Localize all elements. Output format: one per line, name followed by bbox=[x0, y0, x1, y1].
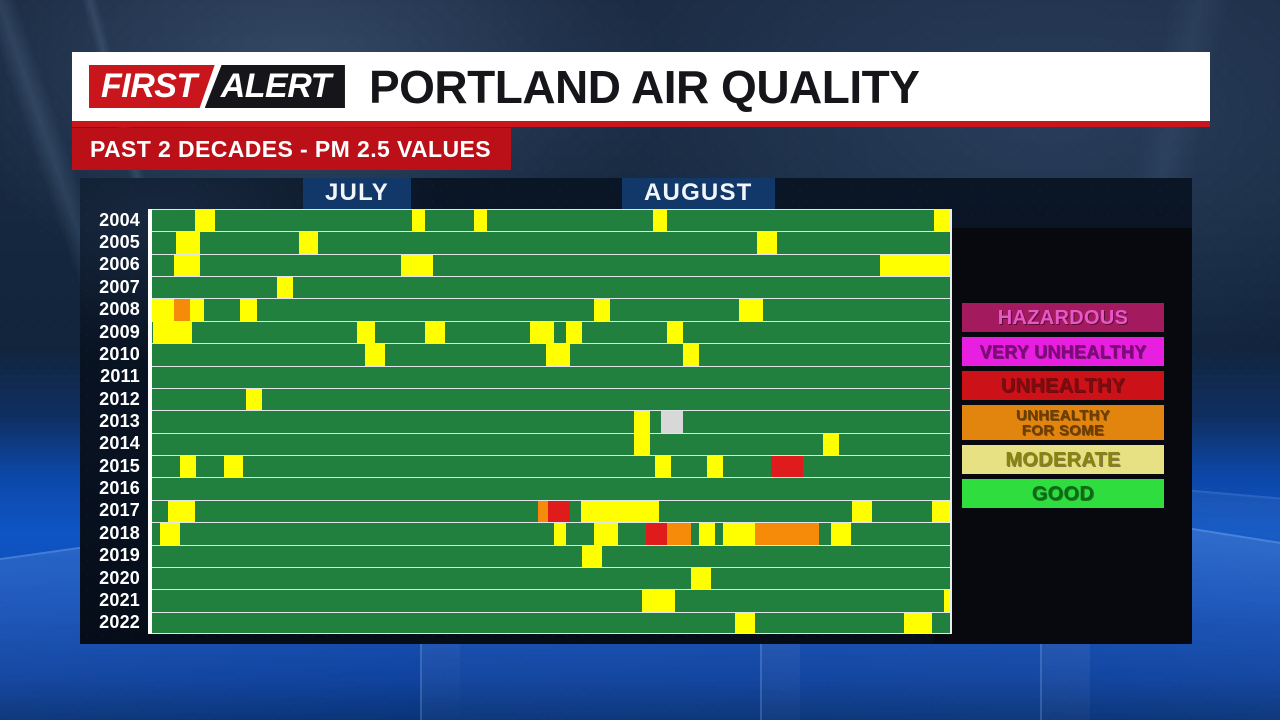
heatmap-cell bbox=[880, 255, 952, 276]
year-axis-label: 2021 bbox=[80, 589, 148, 611]
legend-item-hazardous: HAZARDOUS bbox=[962, 303, 1164, 332]
heatmap-row-cells bbox=[148, 366, 952, 388]
year-axis-label: 2005 bbox=[80, 231, 148, 253]
heatmap-cell bbox=[425, 322, 445, 343]
heatmap-cell bbox=[240, 299, 256, 320]
month-label-august: AUGUST bbox=[622, 178, 775, 209]
month-header-july: JULY bbox=[148, 178, 550, 209]
heatmap-cell bbox=[634, 434, 650, 455]
heatmap-row: 2022 bbox=[80, 612, 952, 634]
month-divider bbox=[148, 209, 152, 634]
heatmap-cell bbox=[582, 546, 602, 567]
heatmap-cell bbox=[757, 232, 776, 253]
year-axis-label: 2008 bbox=[80, 298, 148, 320]
legend-item-unhealthy-for-some: UNHEALTHYFOR SOME bbox=[962, 405, 1164, 440]
heatmap-row: 2017 bbox=[80, 500, 952, 522]
year-axis-label: 2014 bbox=[80, 433, 148, 455]
heatmap-row-cells bbox=[148, 612, 952, 634]
heatmap-cell bbox=[153, 322, 192, 343]
heatmap-row: 2015 bbox=[80, 455, 952, 477]
heatmap-cell bbox=[581, 501, 659, 522]
heatmap-cell bbox=[530, 322, 554, 343]
heatmap-row-cells bbox=[148, 388, 952, 410]
heatmap-cell bbox=[554, 523, 566, 544]
year-axis-label: 2007 bbox=[80, 276, 148, 298]
heatmap-row-cells bbox=[148, 567, 952, 589]
heatmap-row-cells bbox=[148, 254, 952, 276]
heatmap-cell bbox=[195, 210, 215, 231]
heatmap-row: 2006 bbox=[80, 254, 952, 276]
month-header-bar: JULY AUGUST bbox=[148, 178, 952, 209]
heatmap-row-cells bbox=[148, 500, 952, 522]
heatmap-cell bbox=[739, 299, 763, 320]
title-bar: FIRST ALERT PORTLAND AIR QUALITY bbox=[72, 52, 1210, 121]
heatmap-cell bbox=[190, 299, 204, 320]
year-axis-label: 2011 bbox=[80, 366, 148, 388]
heatmap-row-cells bbox=[148, 231, 952, 253]
heatmap-row-cells bbox=[148, 477, 952, 499]
legend-item-label: UNHEALTHY bbox=[1001, 376, 1126, 396]
year-axis-label: 2006 bbox=[80, 254, 148, 276]
heatmap-cell bbox=[852, 501, 872, 522]
heatmap-cell bbox=[168, 501, 195, 522]
heatmap-cell bbox=[401, 255, 433, 276]
heatmap-cell bbox=[904, 613, 932, 633]
year-axis-label: 2009 bbox=[80, 321, 148, 343]
heatmap-cell bbox=[667, 523, 691, 544]
year-axis-label: 2015 bbox=[80, 455, 148, 477]
heatmap-cell bbox=[174, 255, 201, 276]
heatmap-row: 2018 bbox=[80, 522, 952, 544]
heatmap-cell bbox=[823, 434, 839, 455]
heatmap-row-cells bbox=[148, 455, 952, 477]
heatmap-cell bbox=[944, 590, 952, 611]
heatmap-cell bbox=[546, 344, 570, 365]
heatmap-cell bbox=[174, 299, 190, 320]
heatmap-cell bbox=[707, 456, 723, 477]
heatmap-cell bbox=[365, 344, 385, 365]
heatmap-row: 2012 bbox=[80, 388, 952, 410]
heatmap-cell bbox=[180, 456, 196, 477]
heatmap-cell bbox=[735, 613, 755, 633]
heatmap-row-cells bbox=[148, 410, 952, 432]
legend-item-label: GOOD bbox=[1032, 484, 1094, 504]
logo-first-text: FIRST bbox=[89, 65, 215, 108]
heatmap-cell bbox=[771, 456, 803, 477]
legend-item-label: UNHEALTHY bbox=[1016, 408, 1110, 423]
legend-item-very-unhealthy: VERY UNHEALTHY bbox=[962, 337, 1164, 366]
heatmap-cell bbox=[667, 322, 683, 343]
heatmap-row: 2019 bbox=[80, 545, 952, 567]
first-alert-logo: FIRST ALERT bbox=[87, 63, 347, 110]
heatmap-row: 2004 bbox=[80, 209, 952, 231]
year-axis-label: 2022 bbox=[80, 612, 148, 634]
heatmap-row-cells bbox=[148, 343, 952, 365]
month-header-august: AUGUST bbox=[550, 178, 952, 209]
heatmap-cell bbox=[594, 299, 610, 320]
heatmap-cell bbox=[661, 411, 683, 432]
year-axis-label: 2016 bbox=[80, 477, 148, 499]
heatmap-row: 2013 bbox=[80, 410, 952, 432]
heatmap-row: 2009 bbox=[80, 321, 952, 343]
heatmap-row-cells bbox=[148, 298, 952, 320]
heatmap-row: 2021 bbox=[80, 589, 952, 611]
heatmap-row-cells bbox=[148, 321, 952, 343]
heatmap-cell bbox=[646, 523, 666, 544]
heatmap-cell bbox=[642, 590, 674, 611]
month-label-july: JULY bbox=[303, 178, 411, 209]
heatmap-cell bbox=[176, 232, 200, 253]
heatmap-cell bbox=[655, 456, 671, 477]
heatmap-row: 2020 bbox=[80, 567, 952, 589]
heatmap-row-cells bbox=[148, 522, 952, 544]
year-axis-label: 2018 bbox=[80, 522, 148, 544]
heatmap-cell bbox=[277, 277, 293, 298]
heatmap-row: 2007 bbox=[80, 276, 952, 298]
heatmap-cell bbox=[474, 210, 488, 231]
heatmap-cell bbox=[594, 523, 618, 544]
heatmap-row-cells bbox=[148, 276, 952, 298]
heatmap-cell bbox=[755, 523, 819, 544]
heatmap-row: 2014 bbox=[80, 433, 952, 455]
heatmap-cell bbox=[224, 456, 242, 477]
heatmap-cell bbox=[934, 210, 952, 231]
heatmap-cell bbox=[831, 523, 851, 544]
heatmap-cell bbox=[246, 389, 262, 410]
heatmap-row: 2010 bbox=[80, 343, 952, 365]
heatmap-cell bbox=[299, 232, 318, 253]
heatmap-cell bbox=[699, 523, 715, 544]
heatmap-row-cells bbox=[148, 545, 952, 567]
legend-item-label: VERY UNHEALTHY bbox=[980, 343, 1147, 361]
heatmap-cell bbox=[566, 322, 582, 343]
heatmap-row: 2011 bbox=[80, 366, 952, 388]
air-quality-legend: HAZARDOUSVERY UNHEALTHYUNHEALTHYUNHEALTH… bbox=[962, 303, 1164, 513]
legend-item-label: MODERATE bbox=[1005, 450, 1120, 470]
heatmap-row-cells bbox=[148, 433, 952, 455]
heatmap-cell bbox=[357, 322, 375, 343]
chart-panel: JULY AUGUST 2004200520062007200820092010… bbox=[80, 178, 1192, 644]
heatmap-row-cells bbox=[148, 589, 952, 611]
heatmap-row-cells bbox=[148, 209, 952, 231]
heatmap-grid: 2004200520062007200820092010201120122013… bbox=[80, 209, 952, 634]
heatmap-cell bbox=[538, 501, 548, 522]
legend-item-moderate: MODERATE bbox=[962, 445, 1164, 474]
heatmap-row: 2016 bbox=[80, 477, 952, 499]
heatmap-row: 2005 bbox=[80, 231, 952, 253]
year-axis-label: 2020 bbox=[80, 567, 148, 589]
heatmap-cell bbox=[723, 523, 755, 544]
legend-item-label: FOR SOME bbox=[1022, 423, 1104, 438]
legend-item-unhealthy: UNHEALTHY bbox=[962, 371, 1164, 400]
legend-item-good: GOOD bbox=[962, 479, 1164, 508]
heatmap-cell bbox=[160, 523, 180, 544]
year-axis-label: 2017 bbox=[80, 500, 148, 522]
heatmap-cell bbox=[634, 411, 650, 432]
heatmap-cell bbox=[932, 501, 952, 522]
heatmap-cell bbox=[683, 344, 699, 365]
heatmap-cell bbox=[412, 210, 426, 231]
year-axis-label: 2010 bbox=[80, 343, 148, 365]
heatmap-cell bbox=[548, 501, 570, 522]
year-axis-label: 2004 bbox=[80, 209, 148, 231]
year-axis-label: 2012 bbox=[80, 388, 148, 410]
year-axis-label: 2019 bbox=[80, 545, 148, 567]
legend-item-label: HAZARDOUS bbox=[998, 308, 1128, 328]
year-axis-label: 2013 bbox=[80, 410, 148, 432]
logo-alert-text: ALERT bbox=[205, 65, 345, 108]
heatmap-cell bbox=[691, 568, 711, 589]
page-title: PORTLAND AIR QUALITY bbox=[369, 60, 920, 114]
heatmap-cell bbox=[653, 210, 667, 231]
heatmap-row: 2008 bbox=[80, 298, 952, 320]
subtitle-bar: PAST 2 DECADES - PM 2.5 VALUES bbox=[72, 128, 511, 170]
